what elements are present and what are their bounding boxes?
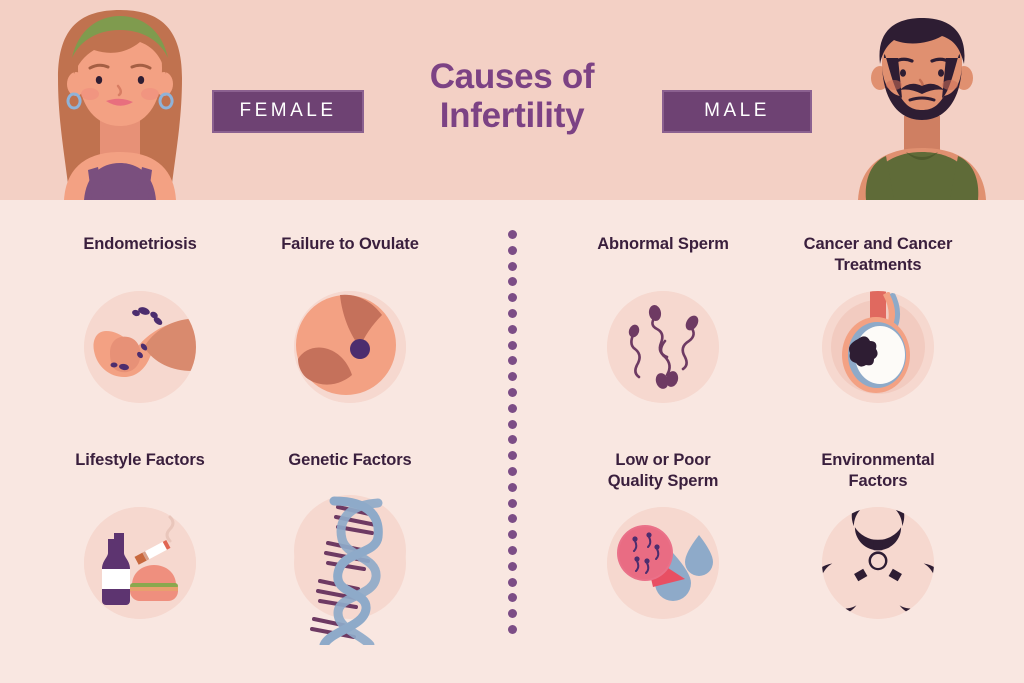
divider-dot (508, 262, 517, 271)
divider-dot (508, 325, 517, 334)
card-label-line-1: Cancer and Cancer (804, 235, 953, 253)
infographic-page: Causes of Infertility FEMALE MALE (0, 0, 1024, 683)
divider-dot (508, 499, 517, 508)
divider-dot (508, 483, 517, 492)
card-label: Endometriosis (30, 234, 250, 277)
divider-dot (508, 277, 517, 286)
female-avatar (20, 0, 220, 200)
card-label-line-1: Environmental (821, 451, 934, 469)
divider-dot (508, 356, 517, 365)
divider-dot (508, 546, 517, 555)
card-label: Environmental Factors (768, 450, 988, 493)
divider-dot (508, 625, 517, 634)
divider-dot (508, 388, 517, 397)
divider-dot (508, 609, 517, 618)
card-label-line-2: Treatments (834, 256, 921, 274)
card-failure-to-ovulate[interactable]: Failure to Ovulate (240, 234, 460, 403)
divider-dot (508, 435, 517, 444)
card-lifestyle-factors[interactable]: Lifestyle Factors (30, 450, 250, 619)
divider-dot (508, 293, 517, 302)
divider-dot (508, 530, 517, 539)
card-genetic-factors[interactable]: Genetic Factors (240, 450, 460, 607)
male-avatar (822, 0, 1022, 200)
card-cancer-and-cancer-treatments[interactable]: Cancer and Cancer Treatments (768, 234, 988, 403)
divider-dot (508, 451, 517, 460)
divider-dot (508, 372, 517, 381)
header-band: Causes of Infertility FEMALE MALE (0, 0, 1024, 200)
card-label-line-1: Low or Poor (615, 451, 710, 469)
divider-dot (508, 341, 517, 350)
card-environmental-factors[interactable]: Environmental Factors (768, 450, 988, 619)
biohazard-icon (822, 507, 934, 619)
wine-cigarette-burger-icon (84, 507, 196, 619)
abnormal-sperm-icon (607, 291, 719, 403)
card-label: Cancer and Cancer Treatments (768, 234, 988, 277)
badge-male[interactable]: MALE (662, 90, 812, 133)
card-label: Low or Poor Quality Sperm (553, 450, 773, 493)
card-label: Abnormal Sperm (553, 234, 773, 277)
card-abnormal-sperm[interactable]: Abnormal Sperm (553, 234, 773, 403)
page-title: Causes of Infertility (362, 57, 662, 135)
divider-dot (508, 578, 517, 587)
card-label: Lifestyle Factors (30, 450, 250, 493)
card-endometriosis[interactable]: Endometriosis (30, 234, 250, 403)
testicle-tumor-icon (822, 291, 934, 403)
divider-dot (508, 309, 517, 318)
ovary-ovulation-icon (294, 291, 406, 403)
divider-dot (508, 562, 517, 571)
divider-dot (508, 246, 517, 255)
divider-dot (508, 404, 517, 413)
card-label-line-2: Factors (849, 472, 908, 490)
divider-dot (508, 467, 517, 476)
divider-dot (508, 420, 517, 429)
card-label: Genetic Factors (240, 450, 460, 493)
semen-sample-droplets-icon (607, 507, 719, 619)
title-line-2: Infertility (362, 96, 662, 135)
card-low-or-poor-quality-sperm[interactable]: Low or Poor Quality Sperm (553, 450, 773, 619)
divider-dot (508, 593, 517, 602)
uterus-endometriosis-icon (84, 291, 196, 403)
center-divider (508, 230, 517, 634)
badge-female[interactable]: FEMALE (212, 90, 364, 133)
card-label: Failure to Ovulate (240, 234, 460, 277)
title-line-1: Causes of (362, 57, 662, 96)
divider-dot (508, 230, 517, 239)
card-label-line-2: Quality Sperm (608, 472, 719, 490)
divider-dot (508, 514, 517, 523)
dna-helix-icon (294, 495, 406, 607)
